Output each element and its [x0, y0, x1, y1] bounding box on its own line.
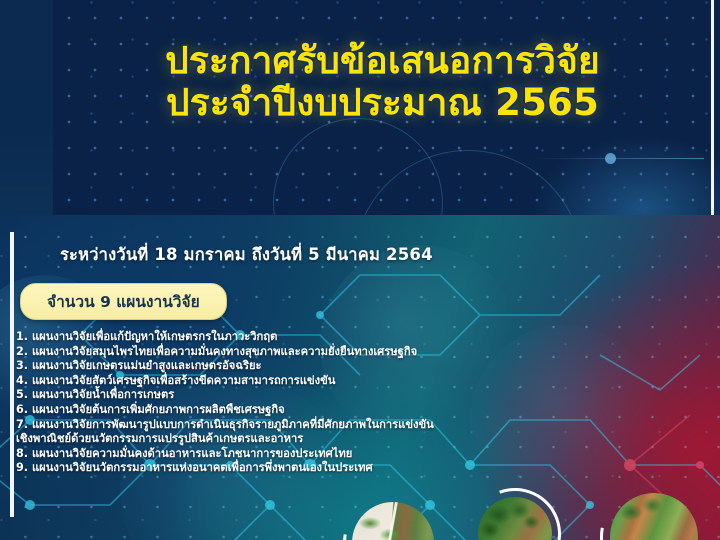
list-item-number: 6.: [16, 403, 28, 416]
list-item-number: 3.: [16, 359, 28, 372]
list-item: 6. แผนงานวิจัยต้นการเพิ่มศักยภาพการผลิตพ…: [16, 403, 436, 418]
poster-root: ประกาศรับข้อเสนอการวิจัย ประจำปีงบประมาณ…: [0, 0, 720, 540]
research-plan-list: 1. แผนงานวิจัยเพื่อแก้ปัญหาให้เกษตรกรในภ…: [16, 330, 436, 476]
list-item: 8. แผนงานวิจัยความมั่นคงด้านอาหารและโภชน…: [16, 447, 436, 462]
title-line-1: ประกาศรับข้อเสนอการวิจัย: [53, 40, 712, 82]
list-item: 2. แผนงานวิจัยสมุนไพรไทยเพื่อความมั่นคงท…: [16, 345, 436, 360]
list-item-label: แผนงานวิจัยนวัตกรรมอาหารแห่งอนาคตเพื่อกา…: [32, 461, 373, 474]
list-item-number: 7.: [16, 418, 28, 431]
body-left-frame-line: [10, 232, 14, 517]
plan-count-badge: จำนวน 9 แผนงานวิจัย: [20, 283, 227, 320]
list-item: 5. แผนงานวิจัยน้ำเพื่อการเกษตร: [16, 388, 436, 403]
list-item-label: แผนงานวิจัยน้ำเพื่อการเกษตร: [32, 388, 174, 401]
list-item-number: 5.: [16, 388, 28, 401]
list-item-label: แผนงานวิจัยความมั่นคงด้านอาหารและโภชนากา…: [32, 447, 352, 460]
list-item-number: 1.: [16, 330, 28, 343]
date-range-text: ระหว่างวันที่ 18 มกราคม ถึงวันที่ 5 มีนา…: [60, 242, 433, 268]
list-item-label: แผนงานวิจัยสมุนไพรไทยเพื่อความมั่นคงทางส…: [32, 345, 417, 358]
title-line-2: ประจำปีงบประมาณ 2565: [53, 82, 712, 124]
list-item-label: แผนงานวิจัยการพัฒนารูปแบบการดำเนินธุรกิจ…: [16, 418, 434, 446]
header-node-dot: [605, 153, 616, 164]
list-item-number: 9.: [16, 461, 28, 474]
list-item-label: แผนงานวิจัยสัตว์เศรษฐกิจเพื่อสร้างขีดควา…: [32, 374, 335, 387]
list-item: 9. แผนงานวิจัยนวัตกรรมอาหารแห่งอนาคตเพื่…: [16, 461, 436, 476]
header-corner-glow: [532, 135, 720, 215]
header-right-frame-line: [711, 0, 714, 215]
list-item-label: แผนงานวิจัยเพื่อแก้ปัญหาให้เกษตรกรในภาวะ…: [32, 330, 277, 343]
list-item-label: แผนงานวิจัยต้นการเพิ่มศักยภาพการผลิตพืชเ…: [32, 403, 285, 416]
list-item-number: 4.: [16, 374, 28, 387]
list-item-number: 8.: [16, 447, 28, 460]
header-node-line: [534, 158, 704, 159]
list-item: 1. แผนงานวิจัยเพื่อแก้ปัญหาให้เกษตรกรในภ…: [16, 330, 436, 345]
list-item: 3. แผนงานวิจัยเกษตรแม่นยำสูงและเกษตรอัจฉ…: [16, 359, 436, 374]
list-item: 7. แผนงานวิจัยการพัฒนารูปแบบการดำเนินธุร…: [16, 418, 436, 447]
list-item: 4. แผนงานวิจัยสัตว์เศรษฐกิจเพื่อสร้างขีด…: [16, 374, 436, 389]
poster-title: ประกาศรับข้อเสนอการวิจัย ประจำปีงบประมาณ…: [53, 40, 712, 124]
list-item-number: 2.: [16, 345, 28, 358]
poster-header: ประกาศรับข้อเสนอการวิจัย ประจำปีงบประมาณ…: [0, 0, 720, 215]
header-left-band: [0, 0, 53, 215]
list-item-label: แผนงานวิจัยเกษตรแม่นยำสูงและเกษตรอัจฉริย…: [32, 359, 262, 372]
